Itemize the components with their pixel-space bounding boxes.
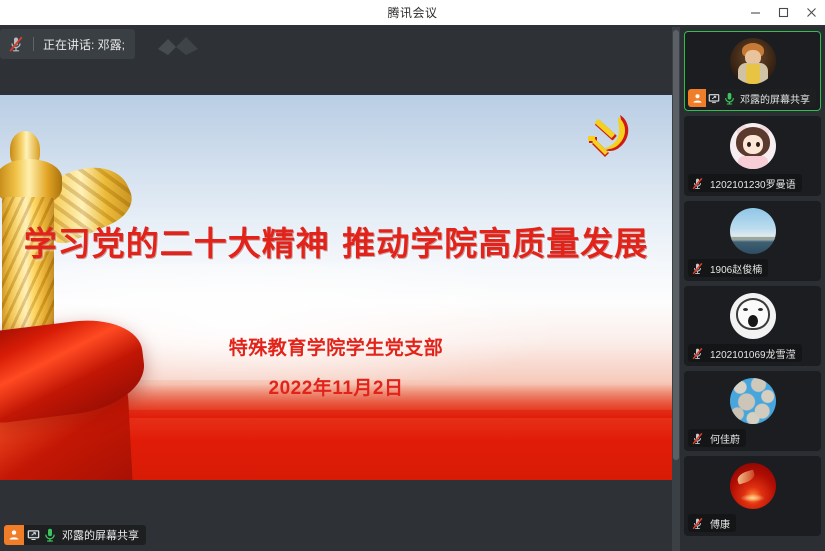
- participant-rail[interactable]: 邓露的屏幕共享 1202101230罗曼语 1906赵俊楠 1202101069…: [680, 27, 825, 551]
- title-bar: 腾讯会议: [0, 0, 825, 25]
- participant-name: 1906赵俊楠: [707, 261, 768, 276]
- microphone-muted-icon: [688, 344, 707, 362]
- participant-name: 1202101069龙雪滢: [707, 346, 802, 361]
- slide-date: 2022年11月2日: [0, 373, 672, 400]
- microphone-on-icon: [42, 525, 58, 545]
- microphone-muted-icon: [688, 259, 707, 277]
- slide-title: 学习党的二十大精神 推动学院高质量发展: [0, 217, 672, 265]
- participant-tile[interactable]: 邓露的屏幕共享: [684, 31, 821, 111]
- participant-name: 邓露的屏幕共享: [737, 91, 816, 106]
- shared-screen-stage[interactable]: 学习党的二十大精神 推动学院高质量发展 特殊教育学院学生党支部 2022年11月…: [0, 95, 672, 480]
- host-person-icon: [688, 89, 706, 107]
- scrollbar-thumb[interactable]: [673, 30, 679, 460]
- chevron-collapse-icon[interactable]: [152, 33, 208, 57]
- microphone-muted-icon: [688, 514, 707, 532]
- presenter-overlay: 邓露的屏幕共享: [4, 525, 146, 545]
- tencent-meeting-window: 腾讯会议: [0, 0, 825, 551]
- avatar-zhao-jun-nan: [730, 208, 776, 254]
- microphone-on-icon: [722, 89, 737, 107]
- microphone-muted-icon: [688, 174, 707, 192]
- screen-share-icon: [24, 525, 42, 545]
- participant-status-bar: 何佳蔚: [688, 429, 746, 447]
- participant-status-bar: 傅康: [688, 514, 736, 532]
- participant-name: 何佳蔚: [707, 431, 746, 446]
- participant-status-bar: 1202101230罗曼语: [688, 174, 802, 192]
- speaking-label: 正在讲话: 邓露;: [43, 36, 125, 53]
- participant-name: 傅康: [707, 516, 736, 531]
- screen-share-icon: [706, 89, 722, 107]
- avatar-long-xue-ying: [730, 293, 776, 339]
- window-controls: [741, 0, 825, 25]
- communist-party-emblem-icon: [576, 107, 638, 169]
- participant-status-bar: 邓露的屏幕共享: [688, 89, 816, 107]
- participant-status-bar: 1906赵俊楠: [688, 259, 768, 277]
- slide-subtitle: 特殊教育学院学生党支部: [0, 333, 672, 360]
- minimize-icon[interactable]: [741, 0, 769, 25]
- close-icon[interactable]: [797, 0, 825, 25]
- participant-tile[interactable]: 1202101230罗曼语: [684, 116, 821, 196]
- microphone-muted-icon: [688, 429, 707, 447]
- participant-name: 1202101230罗曼语: [707, 176, 802, 191]
- speaking-indicator[interactable]: 正在讲话: 邓露;: [0, 29, 135, 59]
- divider: [33, 37, 34, 51]
- presentation-slide: 学习党的二十大精神 推动学院高质量发展 特殊教育学院学生党支部 2022年11月…: [0, 95, 672, 480]
- avatar-fu-kang: [730, 463, 776, 509]
- golden-huabiao-pillar-icon: [0, 113, 134, 480]
- participant-status-bar: 1202101069龙雪滢: [688, 344, 802, 362]
- participant-tile[interactable]: 傅康: [684, 456, 821, 536]
- avatar-he-jia-wei: [730, 378, 776, 424]
- participant-tile[interactable]: 何佳蔚: [684, 371, 821, 451]
- host-person-icon: [4, 525, 24, 545]
- participant-tile[interactable]: 1202101069龙雪滢: [684, 286, 821, 366]
- microphone-muted-icon: [6, 34, 26, 54]
- avatar-deng-lu: [730, 38, 776, 84]
- participant-tile[interactable]: 1906赵俊楠: [684, 201, 821, 281]
- avatar-luo-man-yu: [730, 123, 776, 169]
- presenter-name: 邓露的屏幕共享: [58, 527, 146, 543]
- maximize-icon[interactable]: [769, 0, 797, 25]
- window-title: 腾讯会议: [387, 4, 437, 21]
